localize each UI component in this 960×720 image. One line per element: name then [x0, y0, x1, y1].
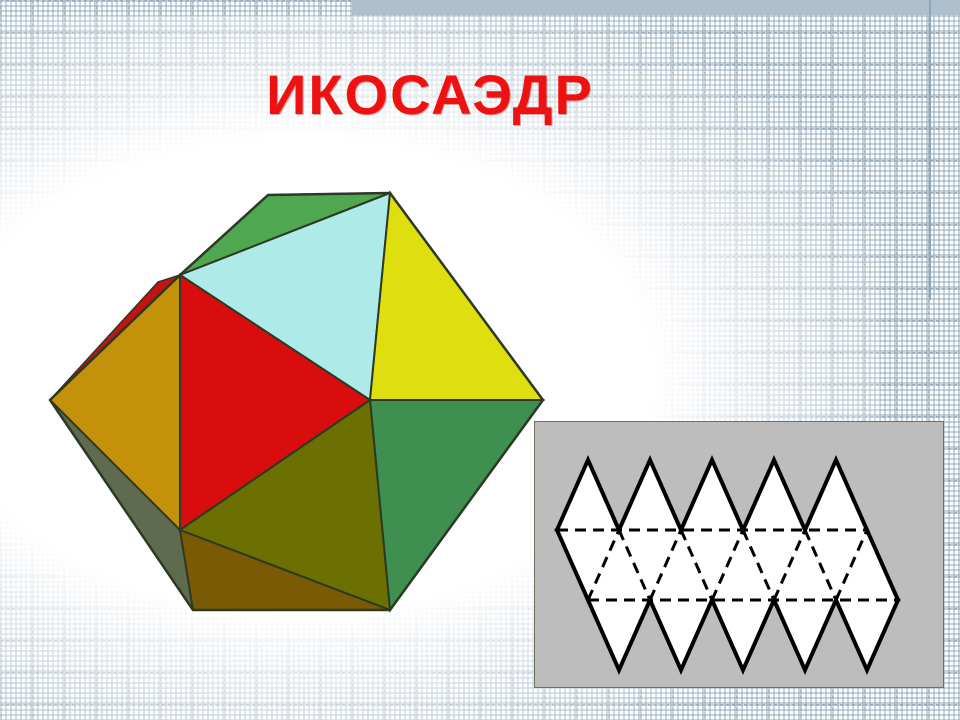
slide-canvas: ИКОСАЭДР: [0, 0, 960, 720]
icosahedron-net-svg: [535, 422, 943, 687]
page-title: ИКОСАЭДР: [0, 62, 860, 127]
top-accent-band: [352, 0, 960, 15]
icosahedron-solid-view: [30, 170, 560, 640]
face-top-yellow: [370, 193, 543, 400]
icosahedron-net-panel: [534, 421, 944, 688]
face-right-green: [370, 400, 543, 610]
icosahedron-solid-svg: [30, 170, 560, 640]
right-accent-rule: [929, 0, 931, 300]
icosahedron-faces: [50, 193, 543, 610]
